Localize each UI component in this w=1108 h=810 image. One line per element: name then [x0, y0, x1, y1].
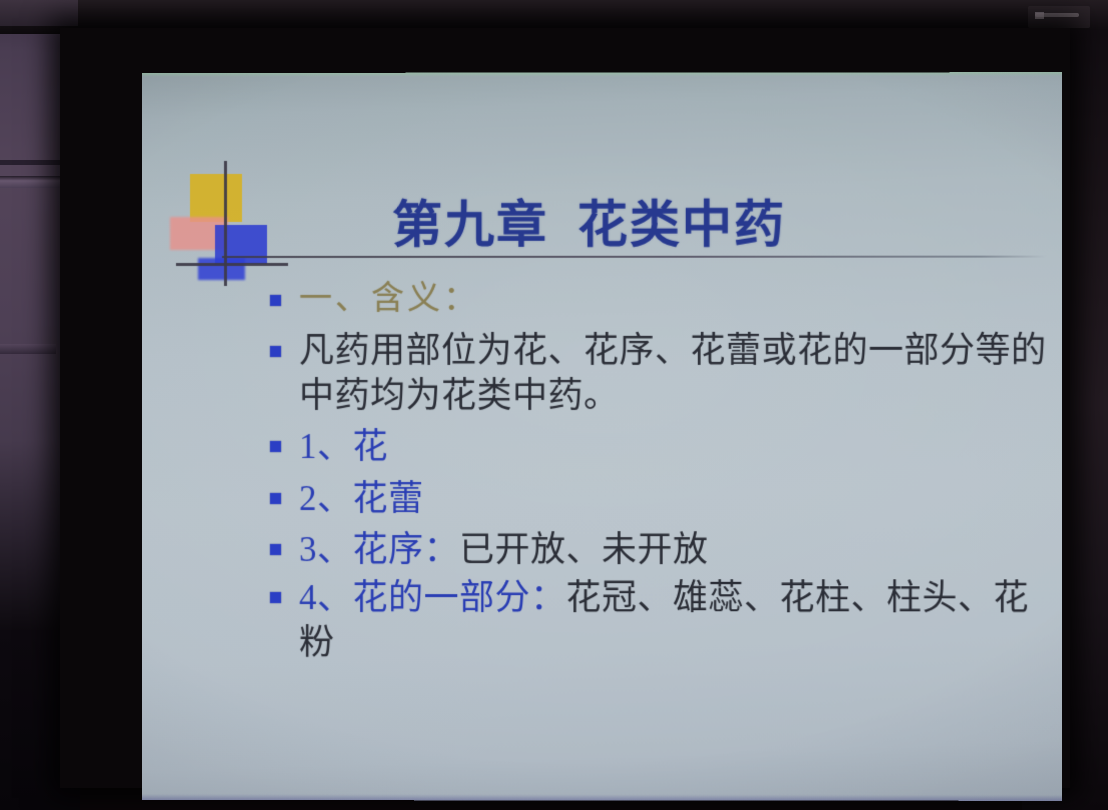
square-bullet-icon: [270, 441, 281, 452]
left-wall-seam-upper: [0, 160, 64, 165]
bullet-text: 3、花序：已开放、未开放: [299, 528, 1052, 574]
square-bullet-icon: [270, 545, 281, 556]
square-bullet-icon: [270, 592, 281, 603]
bullet-row: 2、花蕾: [270, 476, 1052, 522]
bullet-text-segment: 2、花蕾: [299, 479, 424, 518]
blue-small-rectangle-icon: [198, 258, 245, 280]
left-wall-ledge: [0, 344, 56, 354]
slide-bottom-fringe: [142, 794, 1062, 801]
bullet-text: 1、花: [299, 424, 1052, 470]
slide-title: 第九章 花类中药: [392, 184, 1034, 256]
bullet-text: 2、花蕾: [299, 476, 1052, 522]
bullet-text-segment: 凡药用部位为花、花序、花蕾或花的一部分等的中药均为花类中药。: [299, 331, 1047, 415]
presentation-slide: 第九章 花类中药 一、含义：凡药用部位为花、花序、花蕾或花的一部分等的中药均为花…: [142, 72, 1062, 801]
wall-plate-icon: [1028, 6, 1090, 28]
horizontal-line-icon: [176, 263, 288, 266]
ceiling-left-corner: [0, 0, 78, 26]
bullet-text: 4、花的一部分：花冠、雄蕊、花柱、柱头、花粉: [299, 575, 1052, 666]
slide-bullet-list: 一、含义：凡药用部位为花、花序、花蕾或花的一部分等的中药均为花类中药。1、花2、…: [270, 278, 1052, 669]
square-bullet-icon: [270, 346, 281, 357]
square-bullet-icon: [270, 295, 281, 306]
bullet-text-segment: 已开放、未开放: [459, 531, 708, 570]
bullet-text-segment: 4、花的一部分：: [299, 578, 566, 617]
slide-top-fringe: [142, 72, 1062, 77]
wall-plate-stripe-icon: [1035, 13, 1079, 17]
bullet-text-segment: 一、含义：: [299, 281, 479, 317]
square-bullet-icon: [270, 493, 281, 504]
powerpoint-corner-motif: [170, 161, 290, 286]
bullet-row: 3、花序：已开放、未开放: [270, 528, 1052, 574]
bullet-text: 凡药用部位为花、花序、花蕾或花的一部分等的中药均为花类中药。: [299, 329, 1052, 419]
bullet-row: 4、花的一部分：花冠、雄蕊、花柱、柱头、花粉: [270, 575, 1052, 666]
bullet-text-segment: 1、花: [299, 427, 388, 466]
bullet-row: 一、含义：: [270, 278, 1052, 321]
bullet-row: 凡药用部位为花、花序、花蕾或花的一部分等的中药均为花类中药。: [270, 329, 1052, 419]
lecture-room-scene: 第九章 花类中药 一、含义：凡药用部位为花、花序、花蕾或花的一部分等的中药均为花…: [0, 0, 1108, 810]
yellow-square-icon: [190, 174, 242, 222]
projection-screen-frame: 第九章 花类中药 一、含义：凡药用部位为花、花序、花蕾或花的一部分等的中药均为花…: [60, 28, 1070, 788]
left-wall-seam: [0, 176, 64, 188]
bullet-text: 一、含义：: [299, 278, 1052, 321]
vertical-line-icon: [224, 161, 227, 286]
bullet-text-segment: 3、花序：: [299, 531, 459, 570]
bullet-row: 1、花: [270, 424, 1052, 470]
